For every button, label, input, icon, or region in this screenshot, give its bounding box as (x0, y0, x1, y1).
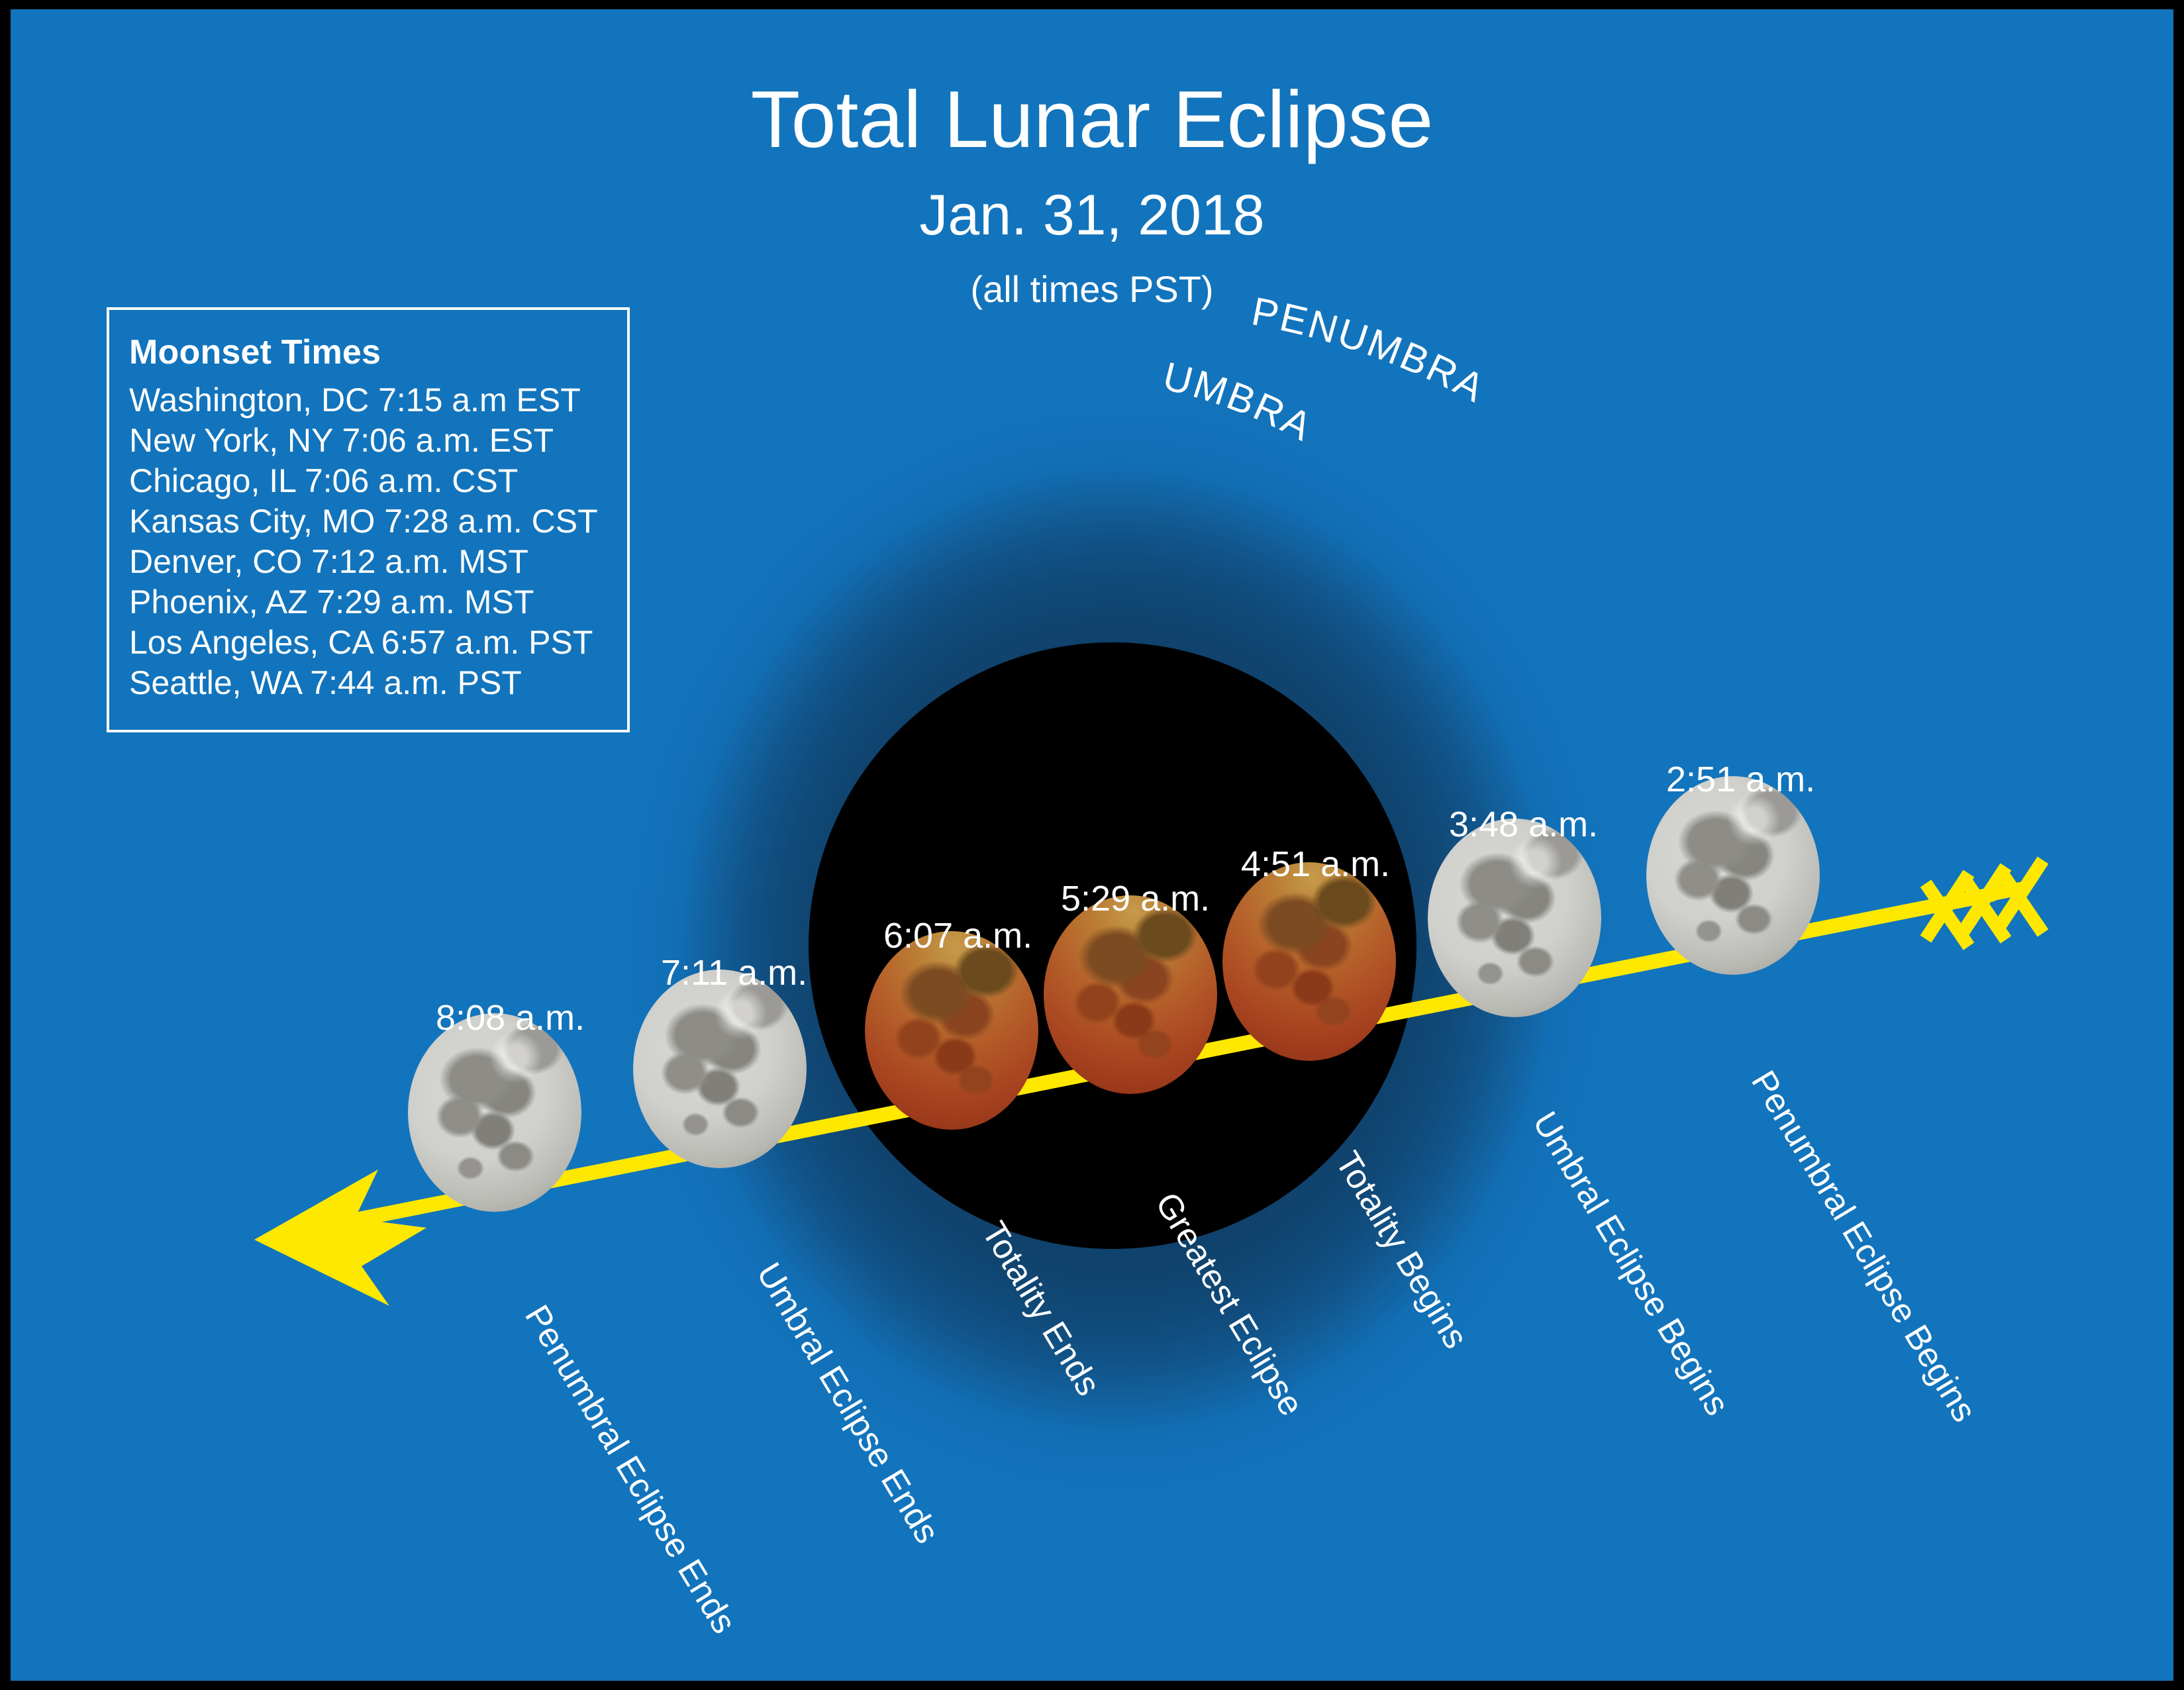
penumbra-label-text: PENUMBRA (1248, 289, 1493, 411)
event-label-penumbral-eclipse-begins: Penumbral Eclipse Begins (1743, 1064, 1984, 1429)
moon-surface (865, 931, 1038, 1130)
umbra-label-textpath: UMBRA (1159, 354, 1320, 450)
moonset-row-seattle: Seattle, WA 7:44 a.m. PST (129, 663, 627, 703)
moonset-row-new-york: New York, NY 7:06 a.m. EST (129, 421, 627, 461)
arrow-fletching-icon (1912, 860, 2043, 946)
moonset-row-denver: Denver, CO 7:12 a.m. MST (129, 542, 627, 582)
moonset-row-los-angeles: Los Angeles, CA 6:57 a.m. PST (129, 622, 627, 663)
moon-disc-phase-1 (633, 969, 807, 1168)
event-label-umbral-eclipse-ends: Umbral Eclipse Ends (748, 1256, 947, 1551)
moonset-row-kansas-city: Kansas City, MO 7:28 a.m. CST (129, 501, 627, 542)
lunar-eclipse-infographic: PENUMBRA UMBRA (0, 0, 2184, 1690)
moon-disc-phase-2 (865, 931, 1038, 1130)
moon-surface (1428, 819, 1601, 1017)
arrow-head-icon (254, 1169, 426, 1306)
moonset-times-title: Moonset Times (129, 332, 627, 372)
umbra-label-text: UMBRA (1159, 354, 1320, 450)
moonset-row-phoenix: Phoenix, AZ 7:29 a.m. MST (129, 582, 627, 622)
moon-disc-phase-6 (1646, 776, 1820, 975)
moonset-row-washington: Washington, DC 7:15 a.m EST (129, 380, 627, 421)
moon-surface (1646, 776, 1820, 975)
moonset-times-panel: Moonset Times Washington, DC 7:15 a.m ES… (107, 307, 630, 732)
moon-disc-phase-0 (408, 1013, 581, 1212)
moon-surface (1222, 862, 1396, 1061)
moon-surface (633, 969, 807, 1168)
event-label-umbral-eclipse-begins: Umbral Eclipse Begins (1524, 1105, 1737, 1422)
event-label-totality-begins: Totality Begins (1327, 1145, 1475, 1356)
moonset-row-chicago: Chicago, IL 7:06 a.m. CST (129, 461, 627, 501)
moon-disc-phase-4 (1222, 862, 1396, 1061)
penumbra-label-textpath: PENUMBRA (1248, 289, 1493, 411)
eclipse-date: Jan. 31, 2018 (11, 183, 2173, 248)
moon-disc-phase-3 (1044, 895, 1217, 1094)
page-title: Total Lunar Eclipse (11, 73, 2173, 166)
sky-background: PENUMBRA UMBRA (11, 9, 2173, 1681)
moon-surface (1044, 895, 1217, 1094)
event-label-penumbral-eclipse-ends: Penumbral Eclipse Ends (517, 1299, 744, 1641)
timezone-note: (all times PST) (11, 268, 2173, 311)
moon-surface (408, 1013, 581, 1212)
moon-disc-phase-5 (1428, 819, 1601, 1017)
